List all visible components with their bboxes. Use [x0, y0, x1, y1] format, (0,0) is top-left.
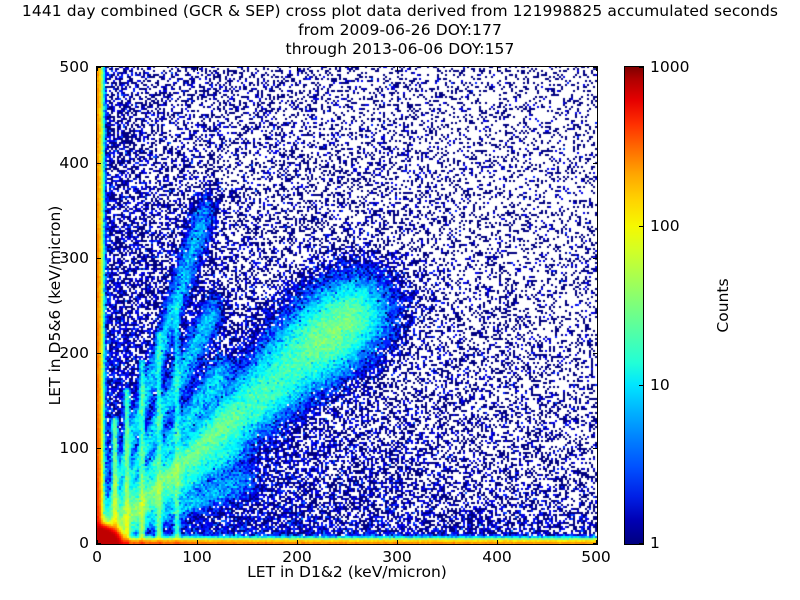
y-axis-label: LET in D5&6 (keV/micron) [46, 66, 64, 545]
y-tick-right-300 [593, 258, 597, 259]
figure-title: 1441 day combined (GCR & SEP) cross plot… [0, 2, 800, 59]
cb-ticklabel-100: 100 [650, 217, 680, 235]
y-tick-right-500 [593, 67, 597, 68]
x-tick-100 [197, 540, 198, 544]
cb-ticklabel-1000: 1000 [650, 58, 689, 76]
cb-tick-10 [639, 385, 643, 386]
x-tick-200 [297, 540, 298, 544]
plot-axes [96, 66, 598, 545]
title-line-1: 1441 day combined (GCR & SEP) cross plot… [0, 2, 800, 21]
x-tick-300 [397, 540, 398, 544]
colorbar-gradient [625, 67, 643, 544]
y-tick-0 [97, 543, 101, 544]
title-line-2: from 2009-06-26 DOY:177 [0, 21, 800, 40]
y-tick-right-400 [593, 163, 597, 164]
y-tick-right-0 [593, 543, 597, 544]
x-tick-top-400 [497, 67, 498, 71]
y-tick-right-200 [593, 353, 597, 354]
cb-tick-1 [639, 543, 643, 544]
cb-ticklabel-1: 1 [650, 534, 660, 552]
cb-tick-100 [639, 226, 643, 227]
figure-canvas: 1441 day combined (GCR & SEP) cross plot… [0, 0, 800, 600]
cb-tick-1000 [639, 67, 643, 68]
y-tick-500 [97, 67, 101, 68]
x-tick-400 [497, 540, 498, 544]
y-tick-300 [97, 258, 101, 259]
colorbar-label: Counts [714, 66, 732, 545]
x-axis-label: LET in D1&2 (keV/micron) [96, 563, 598, 581]
y-tick-200 [97, 353, 101, 354]
x-tick-top-300 [397, 67, 398, 71]
title-line-3: through 2013-06-06 DOY:157 [0, 40, 800, 59]
density-plot [97, 67, 597, 544]
x-tick-top-100 [197, 67, 198, 71]
y-tick-100 [97, 448, 101, 449]
colorbar [624, 66, 644, 545]
y-tick-400 [97, 163, 101, 164]
cb-ticklabel-10: 10 [650, 376, 670, 394]
y-tick-right-100 [593, 448, 597, 449]
x-tick-top-200 [297, 67, 298, 71]
